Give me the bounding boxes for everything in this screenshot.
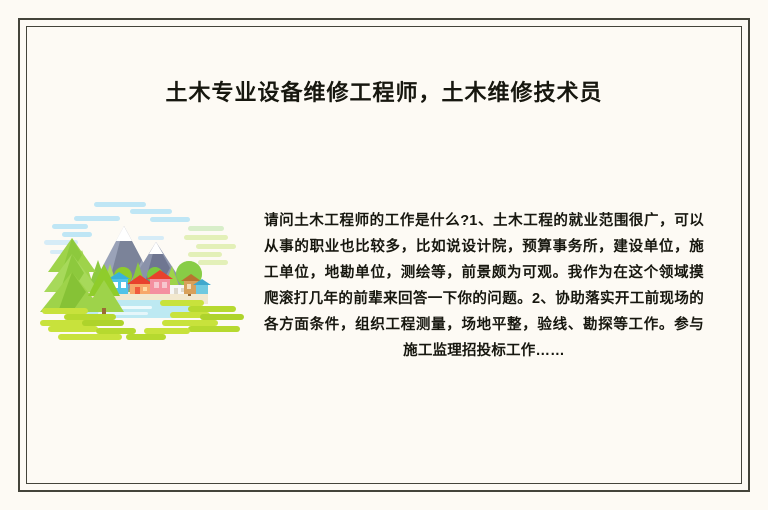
- article-card: 土木专业设备维修工程师，土木维修技术员: [0, 0, 768, 510]
- page-title: 土木专业设备维修工程师，土木维修技术员: [26, 78, 742, 109]
- article-body-text: 请问土木工程师的工作是什么?1、土木工程的就业范围很广，可以从事的职业也比较多，…: [264, 208, 704, 364]
- village-mountain-landscape-illustration: [38, 188, 252, 346]
